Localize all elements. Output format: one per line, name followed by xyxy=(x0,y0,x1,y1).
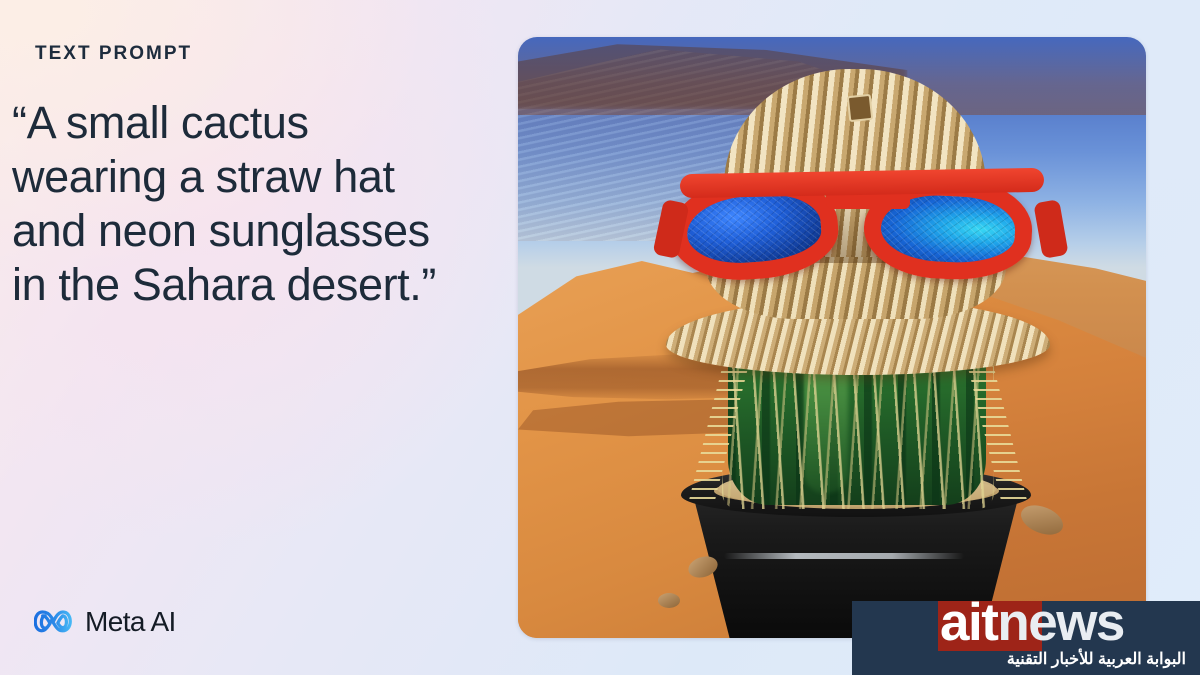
sunglasses-temple-right xyxy=(1033,199,1068,259)
meta-infinity-icon xyxy=(34,608,74,636)
cactus-subject xyxy=(518,37,1146,638)
slide-canvas: TEXT PROMPT “A small cactus wearing a st… xyxy=(0,0,1200,675)
neon-sunglasses xyxy=(668,157,1054,289)
watermark-brand-row: aitnews xyxy=(852,601,1200,651)
watermark-ait: ait xyxy=(940,601,997,652)
generated-image xyxy=(518,37,1146,638)
lens-texture-left xyxy=(685,191,823,266)
meta-ai-logo: Meta AI xyxy=(34,606,176,638)
stone-icon xyxy=(658,593,680,608)
pot-highlight xyxy=(724,553,964,559)
stone-icon xyxy=(1017,500,1068,541)
text-panel: TEXT PROMPT “A small cactus wearing a st… xyxy=(0,0,500,675)
watermark-news: news xyxy=(997,601,1124,652)
quote-text: “A small cactus wearing a straw hat and … xyxy=(12,97,436,310)
prompt-quote: “A small cactus wearing a straw hat and … xyxy=(12,96,452,312)
eyebrow-label: TEXT PROMPT xyxy=(35,43,192,65)
watermark-tagline: البوابة العربية للأخبار التقنية xyxy=(1007,649,1186,669)
aitnews-watermark: aitnews البوابة العربية للأخبار التقنية xyxy=(852,601,1200,675)
watermark-wordmark: aitnews xyxy=(940,601,1124,651)
straw-hat-vent xyxy=(847,94,874,122)
meta-ai-wordmark: Meta AI xyxy=(85,606,176,638)
